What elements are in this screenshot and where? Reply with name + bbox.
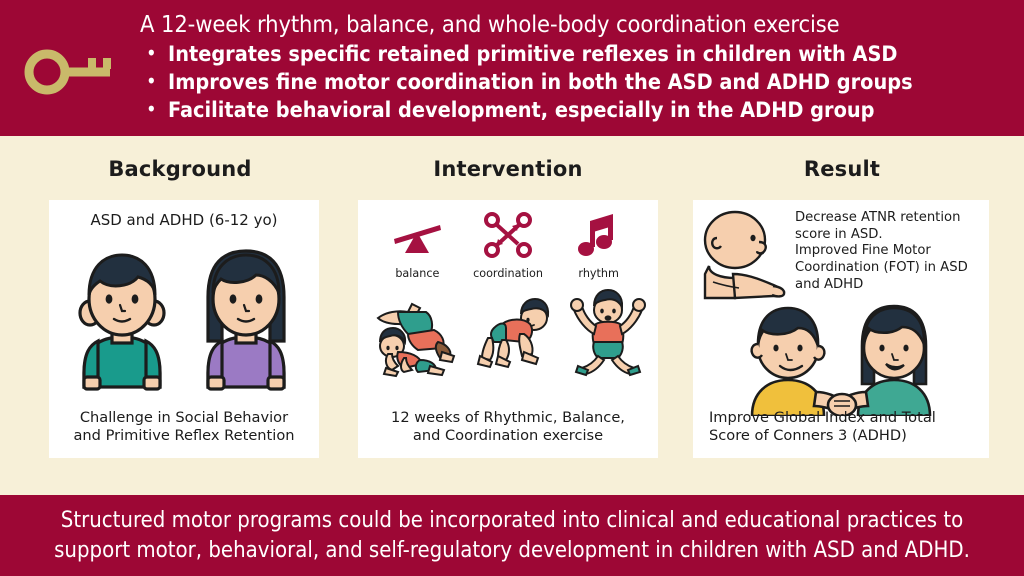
handshake-figures [716, 300, 966, 416]
girl-figure [186, 241, 306, 391]
icon-label-coordination: coordination [473, 267, 543, 280]
header-band: A 12-week rhythm, balance, and whole-bod… [0, 0, 1024, 136]
graphical-abstract-poster: A 12-week rhythm, balance, and whole-bod… [0, 0, 1024, 576]
baby-atnr-figure [693, 204, 795, 304]
background-caption: Challenge in Social Behavior and Primiti… [49, 409, 319, 446]
intervention-caption-line2: and Coordination exercise [358, 427, 658, 446]
coordination-arrows-icon [483, 206, 533, 264]
rhythm-music-note-icon [577, 206, 621, 264]
result-body-line: score in ASD. [795, 227, 985, 244]
column-result: Result [680, 136, 1004, 490]
background-caption-line1: Challenge in Social Behavior [49, 409, 319, 428]
footer-line-1: Structured motor programs could be incor… [61, 506, 963, 535]
background-card: ASD and ADHD (6-12 yo) [49, 200, 319, 458]
header-bullet-item: •Improves fine motor coordination in bot… [140, 69, 1006, 97]
background-top-label: ASD and ADHD (6-12 yo) [49, 211, 319, 229]
balance-seesaw-icon-svg [390, 213, 444, 257]
intervention-icon-row: balance [358, 206, 658, 280]
result-caption-line1: Improve Global Index and Total [709, 409, 989, 428]
intervention-caption-line1: 12 weeks of Rhythmic, Balance, [358, 409, 658, 428]
result-body-line: and ADHD [795, 277, 985, 294]
result-body-line: Improved Fine Motor [795, 243, 985, 260]
section-heading-intervention: Intervention [348, 157, 668, 187]
jumping-jack-exercise-figure [568, 286, 648, 378]
column-intervention: Intervention balance [348, 136, 668, 490]
key-icon-svg [22, 44, 118, 100]
balance-seesaw-icon [390, 206, 444, 264]
intervention-exercise-row [358, 286, 658, 378]
intervention-card: balance [358, 200, 658, 458]
header-title: A 12-week rhythm, balance, and whole-bod… [140, 11, 1006, 39]
result-card: Decrease ATNR retention score in ASD. Im… [693, 200, 989, 458]
result-handshake-row [693, 300, 989, 416]
result-caption-line2: Score of Conners 3 (ADHD) [709, 427, 989, 446]
boy-figure [62, 241, 182, 391]
icon-label-rhythm: rhythm [578, 267, 619, 280]
header-bullet-item: •Facilitate behavioral development, espe… [140, 97, 1006, 125]
middle-section: Background ASD and ADHD (6-12 yo) [0, 136, 1024, 490]
rhythm-music-note-icon-svg [577, 211, 621, 259]
column-background: Background ASD and ADHD (6-12 yo) [20, 136, 340, 490]
coordination-arrows-icon-svg [483, 211, 533, 259]
header-bullet-text: Integrates specific retained primitive r… [168, 42, 898, 67]
baby-atnr-figure-svg [695, 208, 795, 300]
bullet-marker-icon: • [146, 68, 157, 94]
bullet-marker-icon: • [146, 40, 157, 66]
header-bullet-item: •Integrates specific retained primitive … [140, 41, 1006, 69]
intervention-icon-cell-coordination: coordination [463, 206, 554, 280]
result-body-line: Coordination (FOT) in ASD [795, 260, 985, 277]
result-body-line: Decrease ATNR retention [795, 210, 985, 227]
section-heading-background: Background [20, 157, 340, 187]
key-icon [0, 36, 140, 100]
header-bullet-text: Improves fine motor coordination in both… [168, 70, 913, 95]
intervention-icon-cell-rhythm: rhythm [553, 206, 644, 280]
footer-band: Structured motor programs could be incor… [0, 495, 1024, 576]
background-figures-row [49, 241, 319, 391]
bear-crawl-exercise-figure [472, 290, 560, 378]
header-bullet-list: •Integrates specific retained primitive … [140, 41, 1006, 125]
bullet-marker-icon: • [146, 96, 157, 122]
result-top-row: Decrease ATNR retention score in ASD. Im… [693, 204, 989, 304]
footer-line-2: support motor, behavioral, and self-regu… [54, 536, 970, 565]
section-heading-result: Result [680, 157, 1004, 187]
result-body-text: Decrease ATNR retention score in ASD. Im… [795, 204, 989, 293]
result-caption: Improve Global Index and Total Score of … [693, 409, 989, 446]
header-text-block: A 12-week rhythm, balance, and whole-bod… [140, 11, 1024, 125]
background-caption-line2: and Primitive Reflex Retention [49, 427, 319, 446]
intervention-icon-cell-balance: balance [372, 206, 463, 280]
icon-label-balance: balance [395, 267, 439, 280]
intervention-caption: 12 weeks of Rhythmic, Balance, and Coord… [358, 409, 658, 446]
wheelbarrow-exercise-figure [368, 290, 464, 378]
header-bullet-text: Facilitate behavioral development, espec… [168, 98, 875, 123]
